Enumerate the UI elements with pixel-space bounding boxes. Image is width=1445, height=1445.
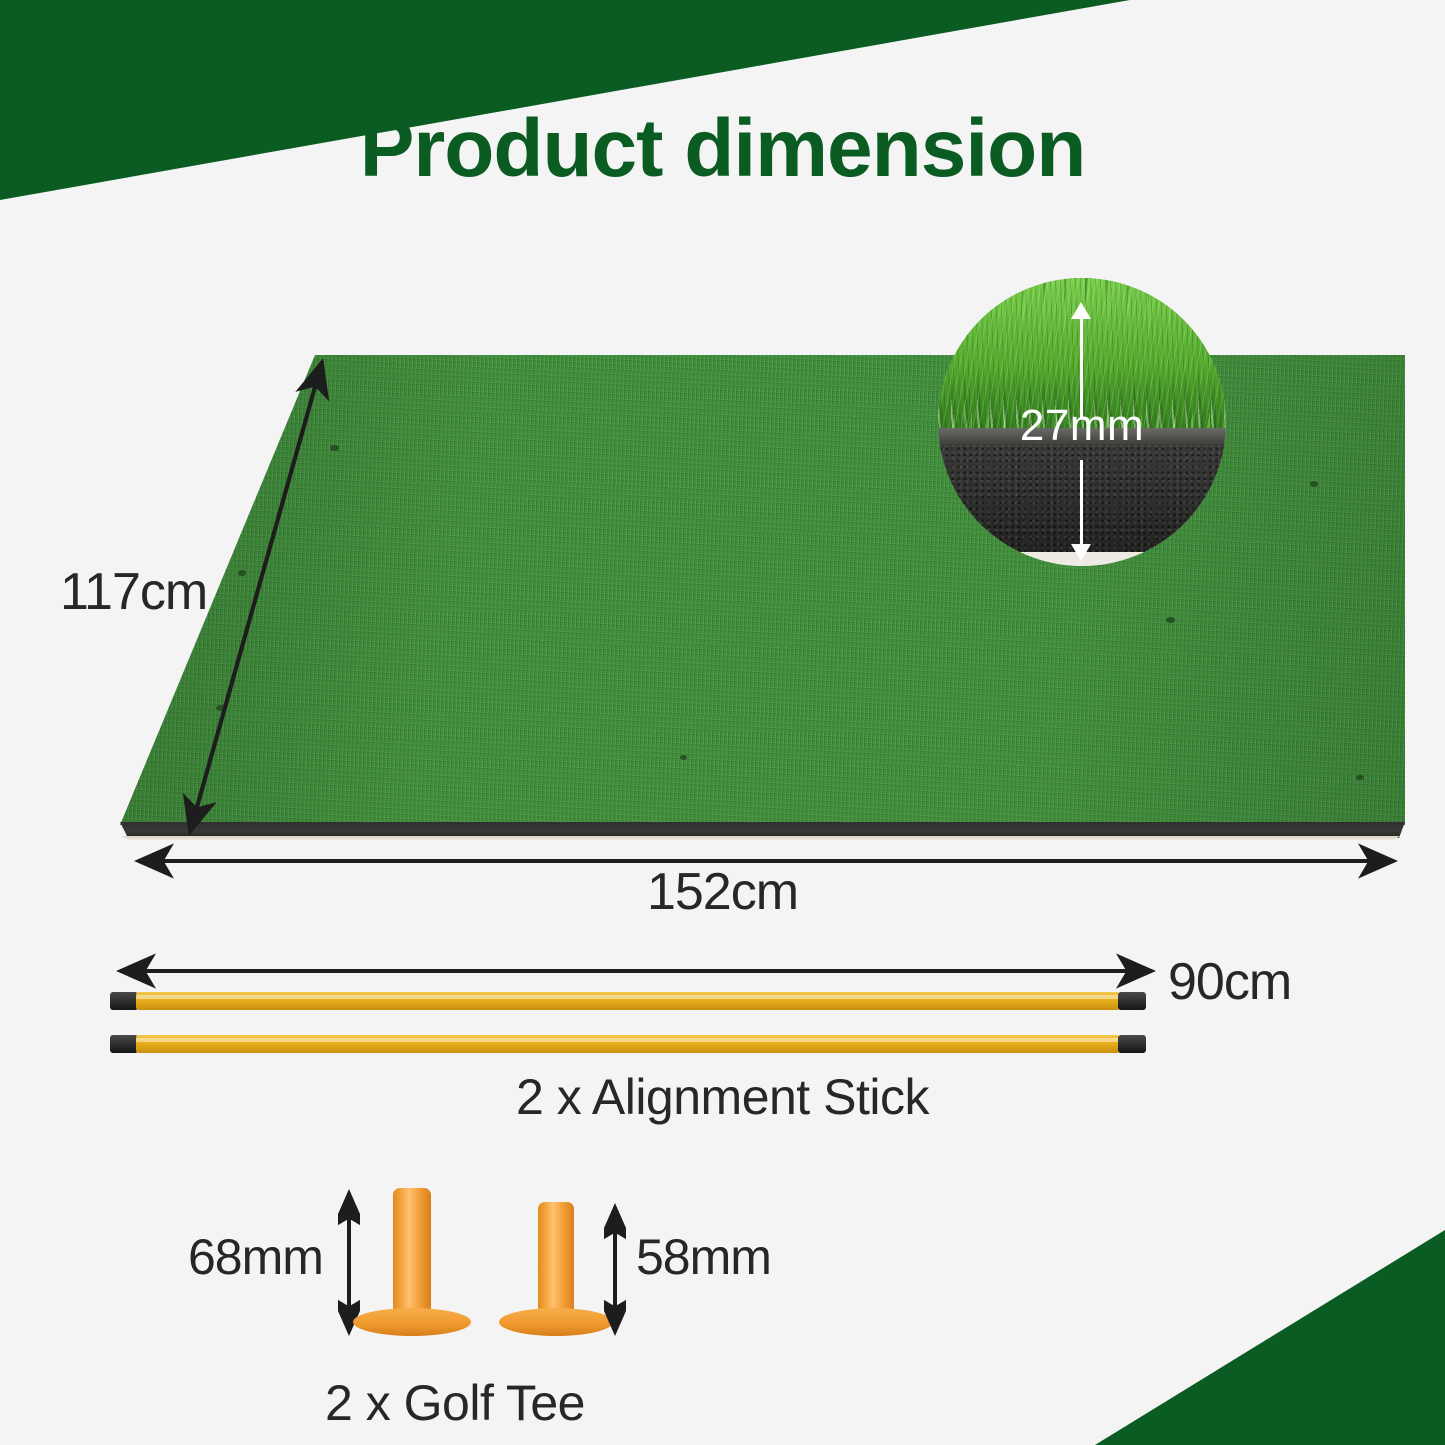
- stick-rod: [136, 992, 1120, 1010]
- turf-speck: [1356, 775, 1364, 780]
- mat-depth-label: 117cm: [60, 562, 230, 622]
- thickness-arrow-down-head-icon: [1071, 544, 1091, 561]
- turf-speck: [1310, 481, 1318, 487]
- tee-base: [353, 1308, 471, 1336]
- mat-width-label: 152cm: [0, 862, 1445, 922]
- alignment-stick-length-label: 90cm: [1168, 952, 1291, 1012]
- thickness-arrow-up-head-icon: [1071, 302, 1091, 319]
- infographic-canvas: Product dimension 27mm: [0, 0, 1445, 1445]
- page-title: Product dimension: [0, 108, 1445, 190]
- bottom-right-green-corner-accent: [1095, 1230, 1445, 1445]
- golf-tees-caption: 2 x Golf Tee: [240, 1374, 670, 1432]
- short-tee-height-label: 58mm: [636, 1228, 771, 1286]
- golf-tee-short: [498, 1202, 614, 1336]
- turf-thickness-closeup-circle: 27mm: [938, 278, 1226, 566]
- alignment-stick-2: [110, 1035, 1146, 1053]
- short-tee-height-dimension-arrow: [604, 1200, 626, 1338]
- turf-speck: [680, 755, 687, 760]
- tee-stem: [538, 1202, 574, 1316]
- turf-thickness-label: 27mm: [938, 404, 1226, 448]
- thickness-arrow-down-shaft: [1080, 460, 1083, 552]
- stick-end-cap-right: [1118, 1035, 1146, 1053]
- turf-speck: [1166, 617, 1175, 623]
- stick-end-cap-right: [1118, 992, 1146, 1010]
- stick-rod: [136, 1035, 1120, 1053]
- tall-tee-height-label: 68mm: [188, 1228, 323, 1286]
- tee-base: [499, 1308, 613, 1336]
- alignment-stick-length-dimension-arrow: [112, 958, 1158, 984]
- alignment-stick-1: [110, 992, 1146, 1010]
- alignment-sticks-caption: 2 x Alignment Stick: [0, 1068, 1445, 1126]
- stick-end-cap-left: [110, 1035, 138, 1053]
- golf-tee-tall: [352, 1188, 472, 1336]
- stick-end-cap-left: [110, 992, 138, 1010]
- tee-stem: [393, 1188, 431, 1316]
